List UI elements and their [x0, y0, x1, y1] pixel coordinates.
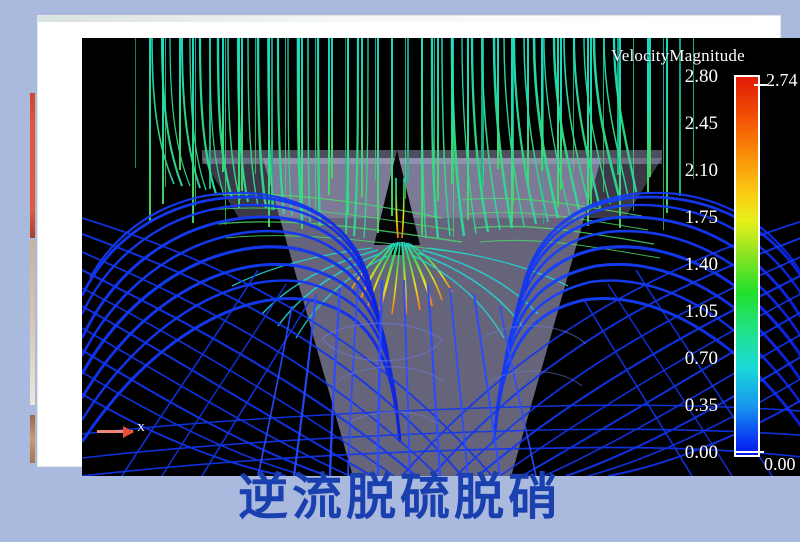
slide-root: X VelocityMagnitude 2.80 2.45 2.10 1.75 …	[0, 0, 800, 542]
colorbar-tick-5: 1.05	[685, 301, 718, 323]
x-axis-label: X	[137, 422, 145, 434]
colorbar-tick-2: 2.10	[685, 160, 718, 182]
image-frame: X VelocityMagnitude 2.80 2.45 2.10 1.75 …	[38, 16, 780, 466]
colorbar-tick-3: 1.75	[685, 207, 718, 229]
colorbar-gradient	[734, 75, 760, 457]
colorbar-tick-1: 2.45	[685, 113, 718, 135]
window-edge-strip-red	[30, 93, 35, 238]
colorbar-min-tickmark	[734, 451, 764, 453]
cfd-render-canvas: X VelocityMagnitude 2.80 2.45 2.10 1.75 …	[82, 38, 800, 476]
slide-caption: 逆流脱硫脱硝	[0, 470, 800, 525]
window-edge-strip-brown	[30, 415, 35, 463]
colorbar-tick-6: 0.70	[685, 348, 718, 370]
colorbar-tick-7: 0.35	[685, 395, 718, 417]
colorbar-legend: VelocityMagnitude 2.80 2.45 2.10 1.75 1.…	[588, 42, 798, 472]
colorbar-max-annotation: 2.74	[766, 70, 798, 91]
x-axis-arrow-icon	[97, 430, 133, 433]
colorbar-tick-8: 0.00	[685, 442, 718, 464]
colorbar-title: VelocityMagnitude	[588, 46, 768, 66]
colorbar-tick-4: 1.40	[685, 254, 718, 276]
colorbar-tick-0: 2.80	[685, 66, 718, 88]
window-edge-strip-tan	[30, 240, 35, 405]
orientation-axis-widget: X	[97, 421, 157, 443]
